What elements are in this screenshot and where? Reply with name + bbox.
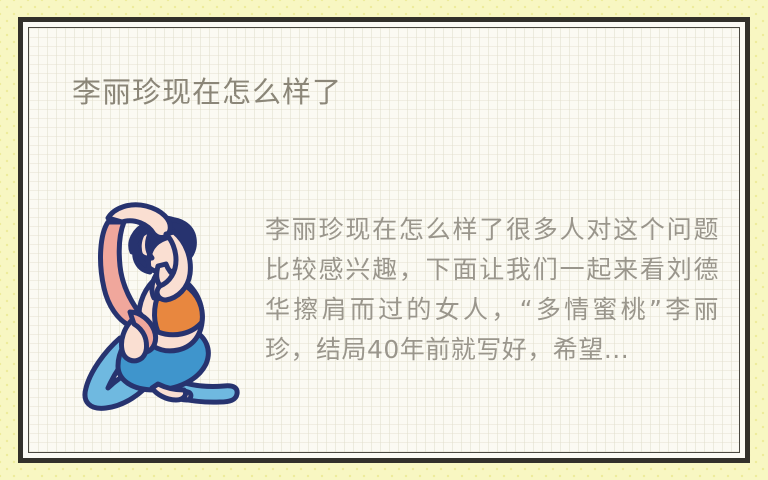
yoga-pose-illustration (62, 188, 244, 420)
card-inner-frame: 李丽珍现在怎么样了 (28, 27, 740, 453)
page-title: 李丽珍现在怎么样了 (72, 76, 342, 110)
yoga-pose-svg (62, 188, 244, 420)
card-outer-frame: 李丽珍现在怎么样了 (18, 17, 750, 463)
article-excerpt: 李丽珍现在怎么样了很多人对这个问题比较感兴趣，下面让我们一起来看刘德华擦肩而过的… (265, 210, 719, 370)
article-card-page: 李丽珍现在怎么样了 (0, 0, 768, 480)
